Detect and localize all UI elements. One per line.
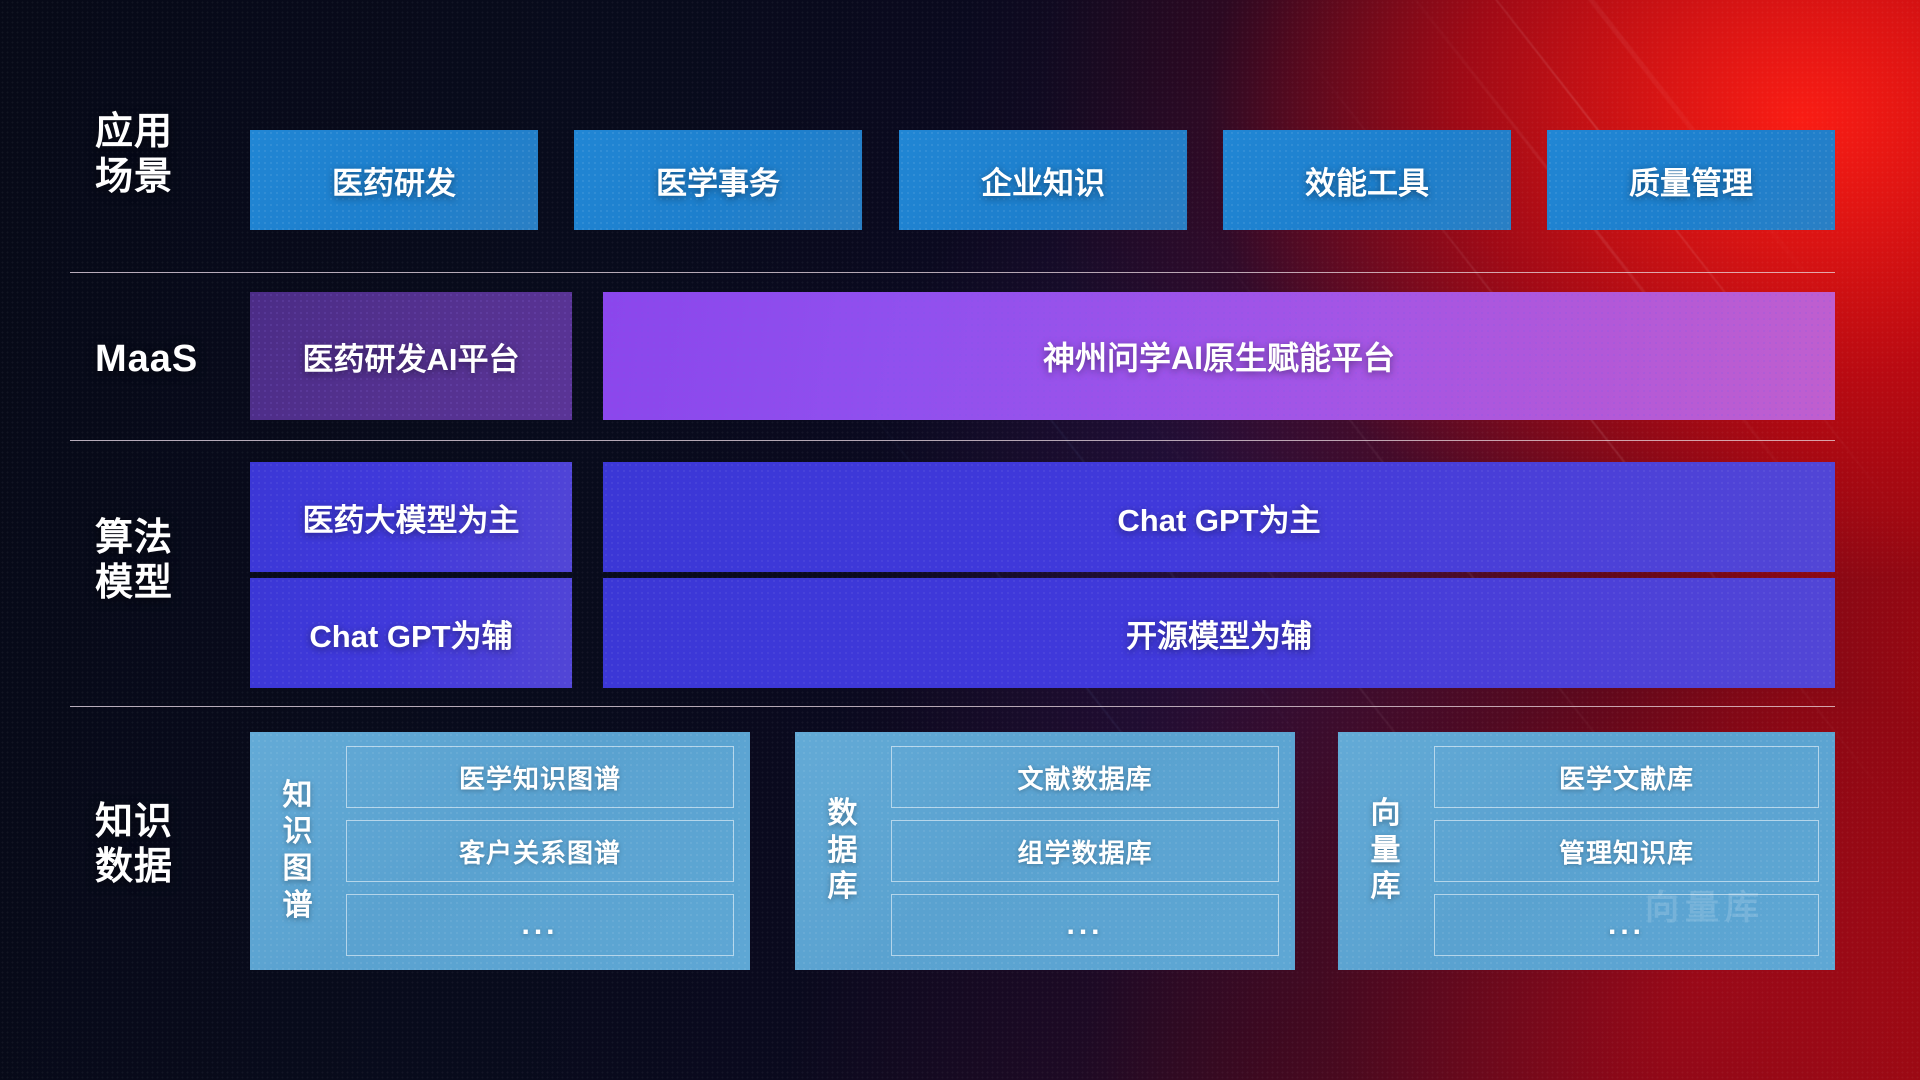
title-char: 量 [1371, 833, 1402, 870]
title-char: 向 [1371, 796, 1402, 833]
row-label-line2: 模型 [95, 561, 245, 606]
title-char: 谱 [283, 888, 314, 925]
title-char: 库 [828, 869, 859, 906]
knowledge-item[interactable]: 管理知识库 [1434, 820, 1819, 882]
knowledge-item[interactable]: 客户关系图谱 [346, 820, 734, 882]
row-label-line2: 数据 [95, 845, 245, 890]
algorithm-box-right-primary[interactable]: Chat GPT为主 [603, 462, 1835, 572]
knowledge-item-more[interactable]: ... [891, 894, 1279, 956]
app-scenario-box-3[interactable]: 企业知识 [899, 130, 1187, 230]
divider-maas-algorithm [70, 440, 1835, 441]
app-scenario-box-2[interactable]: 医学事务 [574, 130, 862, 230]
title-char: 据 [828, 833, 859, 870]
row-label-application-scenarios: 应用 场景 [95, 110, 245, 200]
algorithm-box-left-primary[interactable]: 医药大模型为主 [250, 462, 572, 572]
app-scenario-box-4[interactable]: 效能工具 [1223, 130, 1511, 230]
row-label-line1: 算法 [95, 516, 245, 561]
maas-box-main-platform[interactable]: 神州问学AI原生赋能平台 [603, 292, 1835, 420]
knowledge-group-title-vertical: 数 据 库 [811, 746, 875, 956]
knowledge-group-knowledge-graph[interactable]: 知 识 图 谱 医学知识图谱 客户关系图谱 ... [250, 732, 750, 970]
algorithm-box-left-secondary[interactable]: Chat GPT为辅 [250, 578, 572, 688]
knowledge-group-items: 医学知识图谱 客户关系图谱 ... [330, 746, 734, 956]
title-char: 图 [283, 851, 314, 888]
title-char: 数 [828, 796, 859, 833]
knowledge-item[interactable]: 医学文献库 [1434, 746, 1819, 808]
knowledge-item[interactable]: 文献数据库 [891, 746, 1279, 808]
title-char: 识 [283, 814, 314, 851]
knowledge-group-title-vertical: 向 量 库 [1354, 746, 1418, 956]
algorithm-box-right-secondary[interactable]: 开源模型为辅 [603, 578, 1835, 688]
knowledge-group-database[interactable]: 数 据 库 文献数据库 组学数据库 ... [795, 732, 1295, 970]
row-label-algorithm-model: 算法 模型 [95, 516, 245, 606]
app-scenario-box-5[interactable]: 质量管理 [1547, 130, 1835, 230]
maas-box-pharma-ai-platform[interactable]: 医药研发AI平台 [250, 292, 572, 420]
row-label-line1: 应用 [95, 110, 245, 155]
knowledge-item-more[interactable]: ... [346, 894, 734, 956]
knowledge-group-items: 医学文献库 管理知识库 ... [1418, 746, 1819, 956]
knowledge-group-vector-store[interactable]: 向 量 库 医学文献库 管理知识库 ... [1338, 732, 1835, 970]
row-label-line1: 知识 [95, 800, 245, 845]
app-scenario-box-1[interactable]: 医药研发 [250, 130, 538, 230]
divider-algorithm-knowledge [70, 706, 1835, 707]
knowledge-item-more[interactable]: ... [1434, 894, 1819, 956]
slide-canvas: 应用 场景 医药研发 医学事务 企业知识 效能工具 质量管理 MaaS 医药研发… [0, 0, 1920, 1080]
knowledge-group-title-vertical: 知 识 图 谱 [266, 746, 330, 956]
row-label-line1: MaaS [95, 337, 245, 382]
knowledge-group-items: 文献数据库 组学数据库 ... [875, 746, 1279, 956]
divider-application-maas [70, 272, 1835, 273]
row-label-knowledge-data: 知识 数据 [95, 800, 245, 890]
row-label-maas: MaaS [95, 337, 245, 382]
title-char: 库 [1371, 869, 1402, 906]
title-char: 知 [283, 778, 314, 815]
knowledge-item[interactable]: 组学数据库 [891, 820, 1279, 882]
row-label-line2: 场景 [95, 155, 245, 200]
knowledge-item[interactable]: 医学知识图谱 [346, 746, 734, 808]
